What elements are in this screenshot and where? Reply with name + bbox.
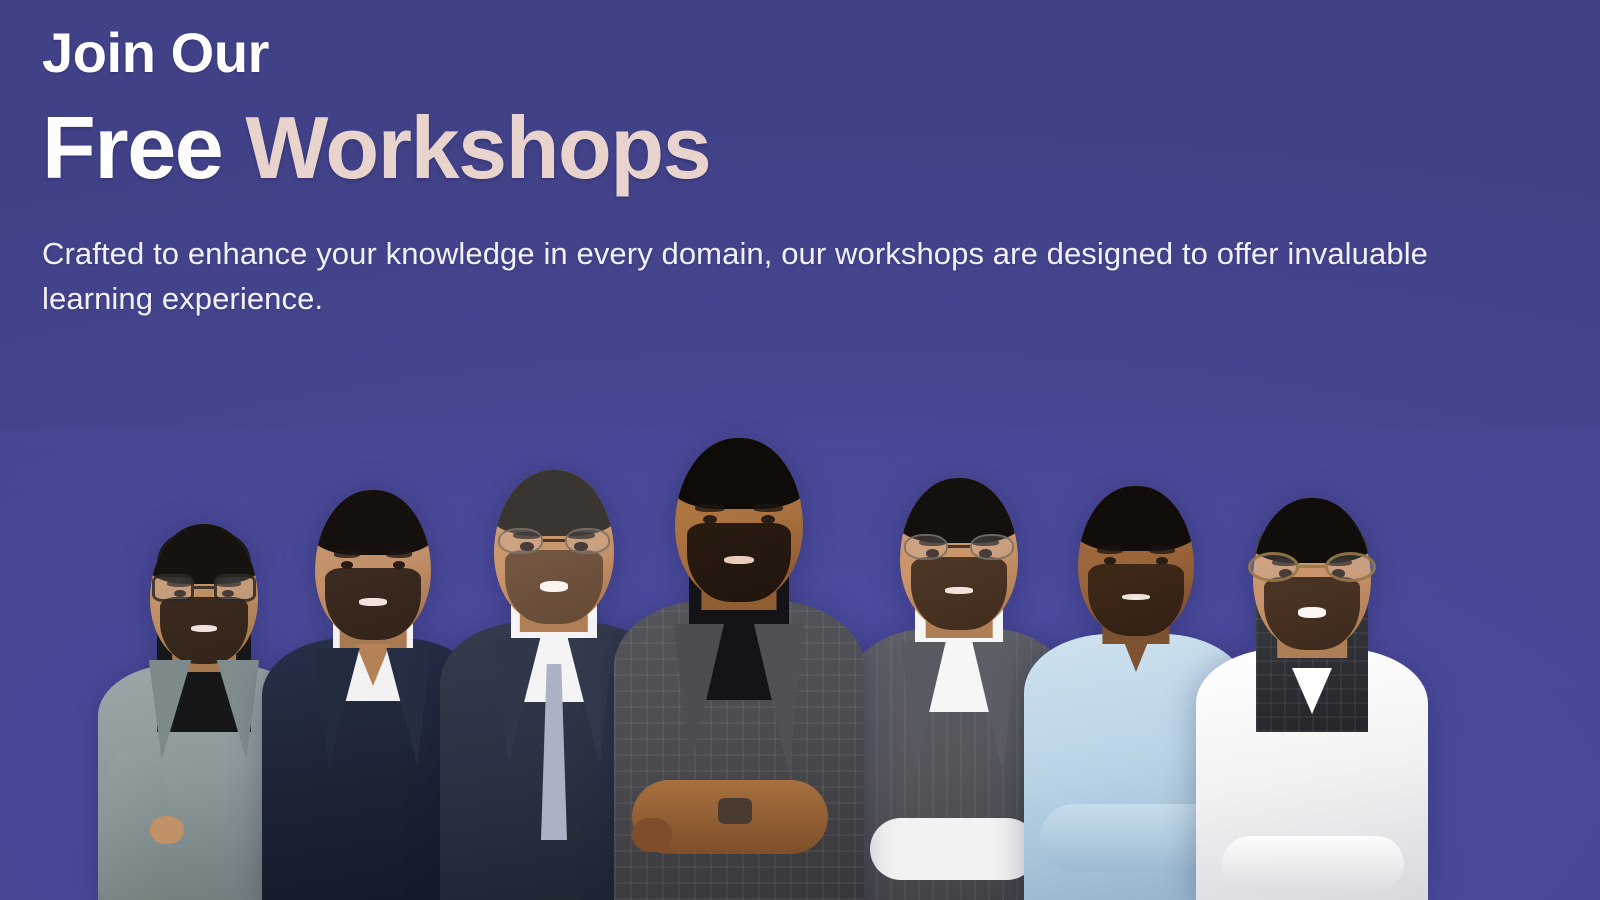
person-2-hair	[315, 490, 431, 555]
person-2-head	[315, 490, 431, 640]
person-6-head	[1078, 486, 1194, 636]
hero-copy: Join Our Free Workshops Crafted to enhan…	[42, 24, 1542, 322]
person-6-brow-left	[1097, 546, 1124, 554]
person-5-arm	[870, 818, 1038, 880]
hero-subcopy: Crafted to enhance your knowledge in eve…	[42, 231, 1498, 322]
person-2-mouth	[359, 598, 387, 606]
person-6-mouth	[1122, 594, 1150, 600]
person-4-brow-left	[695, 504, 724, 512]
person-7-glasses-icon	[1248, 552, 1376, 582]
person-2-eye-left	[341, 561, 354, 569]
person-5-glasses-icon	[904, 534, 1014, 560]
person-3-glasses-icon	[498, 528, 610, 554]
person-4-eye-right	[761, 515, 775, 524]
person-1-glasses-icon	[152, 574, 256, 602]
person-4-hair	[675, 438, 803, 509]
person-6-eye-left	[1104, 557, 1117, 565]
person-5-beard	[911, 557, 1008, 630]
person-6-hair	[1078, 486, 1194, 551]
person-6-eye-right	[1156, 557, 1169, 565]
hero-eyebrow: Join Our	[42, 24, 1542, 81]
hero-headline: Free Workshops	[42, 103, 1542, 193]
person-4	[614, 438, 864, 900]
person-4-watch	[718, 798, 752, 824]
person-7	[1196, 494, 1428, 900]
person-6-beard	[1088, 564, 1183, 636]
headline-word-free: Free	[42, 98, 245, 197]
group-photo	[0, 430, 1600, 900]
person-1-hand	[150, 816, 184, 844]
person-2-brow-right	[386, 550, 413, 558]
person-5-mouth	[945, 587, 973, 593]
person-1-mouth	[191, 625, 217, 632]
person-4-head	[675, 438, 803, 602]
person-3-mouth	[540, 581, 569, 592]
person-4-hand	[632, 818, 672, 852]
person-3-hair	[494, 470, 614, 536]
person-2-brow-left	[334, 550, 361, 558]
person-7-mouth	[1298, 607, 1326, 618]
person-7-forearm	[1222, 836, 1404, 892]
headline-word-workshops: Workshops	[245, 98, 710, 197]
person-2-eye-right	[393, 561, 406, 569]
person-4-brow-right	[753, 504, 782, 512]
person-6-brow-right	[1149, 546, 1176, 554]
hero-banner: Join Our Free Workshops Crafted to enhan…	[0, 0, 1600, 900]
person-4-mouth	[724, 556, 755, 564]
